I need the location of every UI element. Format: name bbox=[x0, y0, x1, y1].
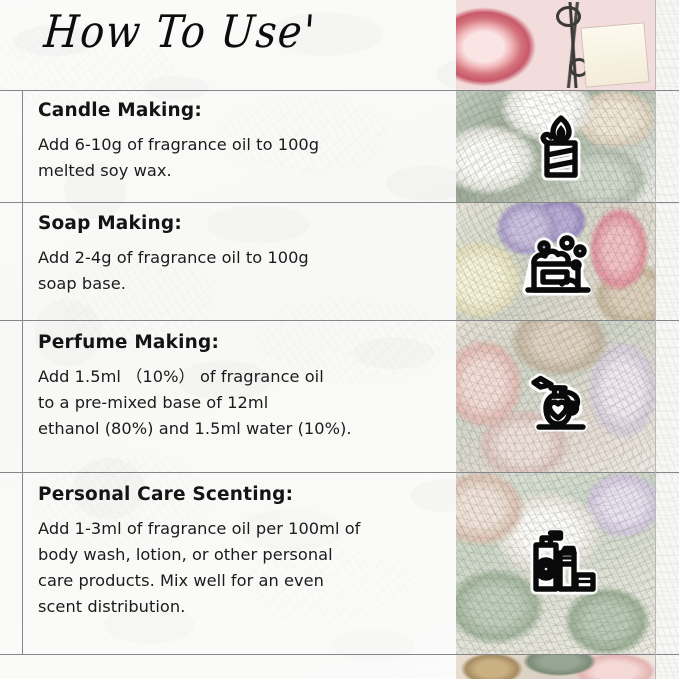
body-line: Add 1.5ml （10%） of fragrance oil bbox=[38, 364, 450, 390]
body-line: scent distribution. bbox=[38, 594, 450, 620]
candle-icon bbox=[520, 105, 602, 187]
body-line: soap base. bbox=[38, 271, 450, 297]
section-body: Add 6-10g of fragrance oil to 100g melte… bbox=[38, 132, 450, 184]
soap-bar-icon bbox=[520, 224, 602, 306]
body-line: Add 2-4g of fragrance oil to 100g bbox=[38, 245, 450, 271]
vertical-right-rule bbox=[655, 0, 656, 679]
section-personal-care-scenting: Personal Care Scenting: Add 1-3ml of fra… bbox=[38, 485, 450, 620]
section-body: Add 1-3ml of fragrance oil per 100ml of … bbox=[38, 516, 450, 620]
paper-note-illustration bbox=[582, 23, 649, 86]
right-edge-sketch-lines bbox=[655, 0, 679, 679]
bottom-photo-band bbox=[456, 654, 655, 679]
section-body: Add 2-4g of fragrance oil to 100g soap b… bbox=[38, 245, 450, 297]
section-heading: Personal Care Scenting: bbox=[38, 485, 450, 505]
body-line: Add 1-3ml of fragrance oil per 100ml of bbox=[38, 516, 450, 542]
section-candle-making: Candle Making: Add 6-10g of fragrance oi… bbox=[38, 101, 450, 184]
divider-rule-1 bbox=[0, 90, 679, 91]
right-edge-sketch-sliver bbox=[655, 0, 679, 679]
body-line: care products. Mix well for an even bbox=[38, 568, 450, 594]
body-line: ethanol (80%) and 1.5ml water (10%). bbox=[38, 416, 450, 442]
section-heading: Perfume Making: bbox=[38, 333, 450, 353]
lotion-bottle-icon bbox=[520, 519, 602, 601]
section-perfume-making: Perfume Making: Add 1.5ml （10%） of fragr… bbox=[38, 333, 450, 442]
divider-rule-5 bbox=[0, 654, 679, 655]
how-to-use-infographic: How To Use' Candle Making: Add 6-10g of … bbox=[0, 0, 679, 679]
section-body: Add 1.5ml （10%） of fragrance oil to a pr… bbox=[38, 364, 450, 442]
body-line: to a pre-mixed base of 12ml bbox=[38, 390, 450, 416]
divider-rule-4 bbox=[0, 472, 679, 473]
body-line: melted soy wax. bbox=[38, 158, 450, 184]
page-title: How To Use' bbox=[42, 6, 318, 58]
section-heading: Soap Making: bbox=[38, 214, 450, 234]
section-heading: Candle Making: bbox=[38, 101, 450, 121]
body-line: Add 6-10g of fragrance oil to 100g bbox=[38, 132, 450, 158]
vertical-margin-rule bbox=[22, 90, 23, 655]
roses-scissors-photo-band bbox=[456, 0, 655, 90]
divider-rule-2 bbox=[0, 202, 679, 203]
divider-rule-3 bbox=[0, 320, 679, 321]
section-soap-making: Soap Making: Add 2-4g of fragrance oil t… bbox=[38, 214, 450, 297]
perfume-atomizer-icon bbox=[520, 363, 602, 445]
body-line: body wash, lotion, or other personal bbox=[38, 542, 450, 568]
title-area: How To Use' bbox=[0, 0, 456, 90]
